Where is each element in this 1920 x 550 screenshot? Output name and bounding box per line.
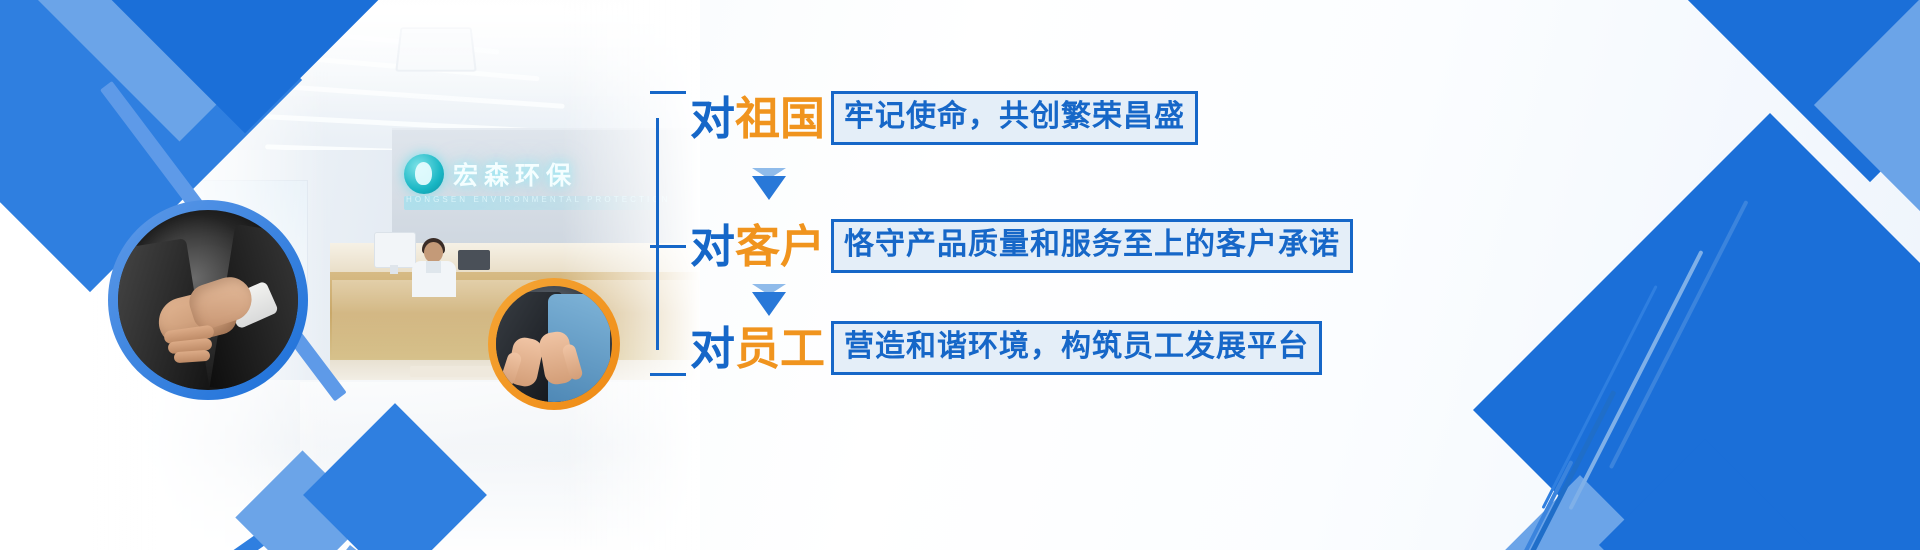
culture-row-employee: 对员工 营造和谐环境，构筑员工发展平台 xyxy=(650,320,1322,376)
globe-logo-icon xyxy=(404,154,444,194)
reception-monitor-secondary xyxy=(458,250,490,270)
culture-statement-list: 对祖国 牢记使命，共创繁荣昌盛 对客户 恪守产品质量和服务至上的客户承诺 对员工… xyxy=(650,0,1550,550)
reception-monitor xyxy=(374,232,416,268)
down-arrow-icon xyxy=(752,292,786,316)
slogan-employee: 营造和谐环境，构筑员工发展平台 xyxy=(831,321,1322,375)
receptionist-collar xyxy=(426,261,441,273)
applause-photo-icon xyxy=(496,286,612,402)
culture-row-country: 对祖国 牢记使命，共创繁荣昌盛 xyxy=(650,90,1198,146)
slogan-country: 牢记使命，共创繁荣昌盛 xyxy=(831,91,1198,145)
row-target-label: 祖国 xyxy=(735,96,825,141)
slogan-customer: 恪守产品质量和服务至上的客户承诺 xyxy=(831,219,1353,273)
row-prefix-label: 对 xyxy=(690,224,735,269)
down-arrow-icon xyxy=(752,176,786,200)
row-prefix-label: 对 xyxy=(690,326,735,371)
row-prefix-label: 对 xyxy=(690,96,735,141)
handshake-photo-icon xyxy=(118,210,298,390)
company-name-sign: 宏森环保 xyxy=(453,156,577,192)
bracket-tick xyxy=(650,91,686,94)
row-target-label: 员工 xyxy=(735,326,825,371)
bracket-tick xyxy=(650,373,686,376)
monitor-stand xyxy=(390,265,398,274)
culture-row-customer: 对客户 恪守产品质量和服务至上的客户承诺 xyxy=(650,218,1353,274)
receptionist-head xyxy=(424,242,443,263)
bracket-tick xyxy=(650,245,686,248)
row-target-label: 客户 xyxy=(735,224,825,269)
corporate-culture-banner: 宏森环保 HONGSEN ENVIRONMENTAL PROTECTION xyxy=(0,0,1920,550)
